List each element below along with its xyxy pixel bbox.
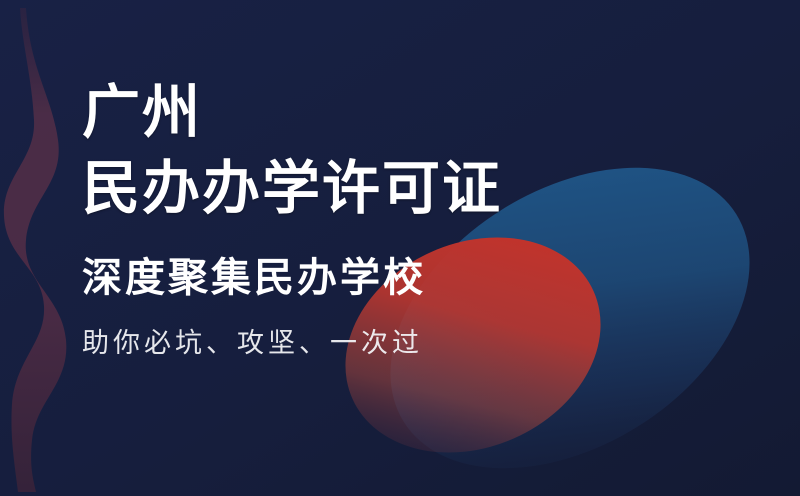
promo-banner: 广州 民办办学许可证 深度聚集民办学校 助你必坑、攻坚、一次过: [0, 0, 800, 496]
banner-title-line1: 广州: [82, 84, 202, 142]
banner-title-line2: 民办办学许可证: [82, 160, 502, 218]
banner-subtitle: 深度聚集民办学校: [82, 258, 426, 298]
banner-text-block: 广州 民办办学许可证 深度聚集民办学校 助你必坑、攻坚、一次过: [82, 0, 682, 496]
banner-tagline: 助你必坑、攻坚、一次过: [82, 330, 423, 357]
